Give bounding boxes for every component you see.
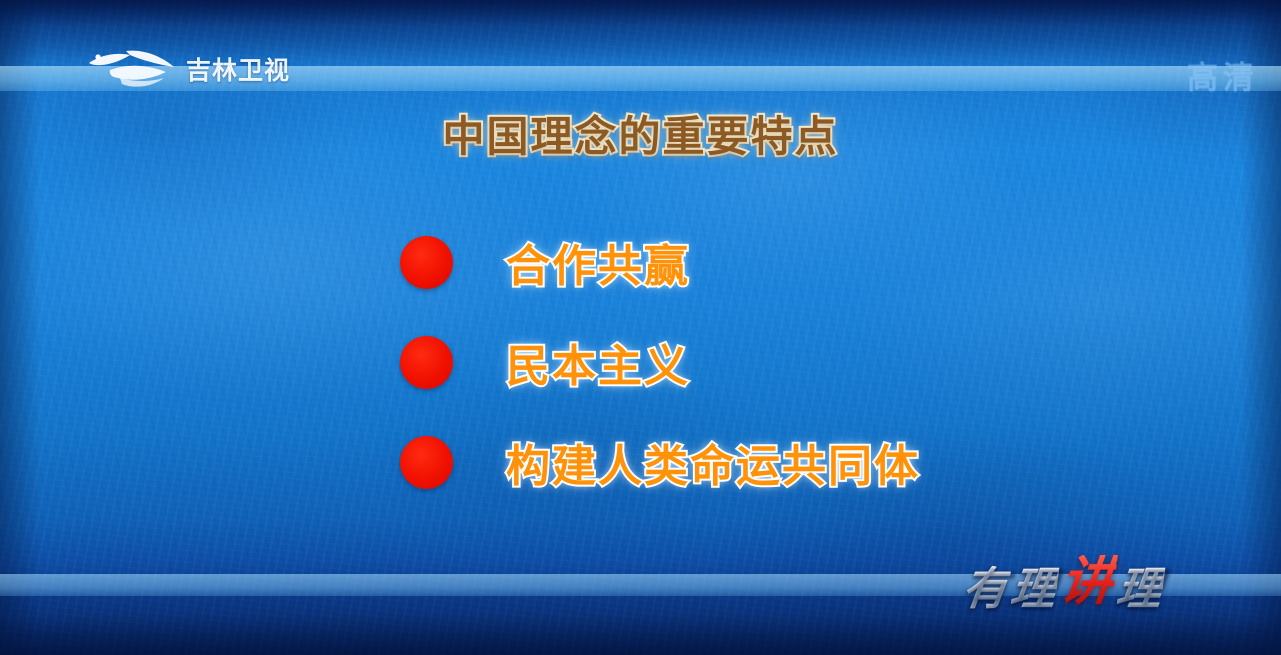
program-logo-glyph-4: 理 bbox=[1114, 566, 1166, 611]
program-logo-glyph-3: 讲 bbox=[1057, 555, 1118, 608]
bullet-label: 民本主义 bbox=[506, 330, 690, 394]
red-dot-bullet-icon bbox=[400, 236, 453, 289]
hd-watermark: 高清 bbox=[1187, 52, 1259, 97]
bullet-list: 合作共赢 民本主义 构建人类命运共同体 bbox=[400, 212, 1100, 512]
list-item: 合作共赢 bbox=[400, 212, 1100, 312]
bullet-label: 构建人类命运共同体 bbox=[506, 430, 920, 494]
list-item: 构建人类命运共同体 bbox=[400, 412, 1100, 512]
crane-bird-icon bbox=[86, 48, 178, 90]
channel-logo: 吉林卫视 bbox=[86, 48, 290, 90]
program-logo-glyph-1: 有 bbox=[960, 566, 1012, 611]
program-logo-glyph-2: 理 bbox=[1008, 566, 1060, 611]
list-item: 民本主义 bbox=[400, 312, 1100, 412]
bullet-label: 合作共赢 bbox=[506, 230, 690, 294]
slide-title: 中国理念的重要特点 bbox=[0, 103, 1281, 164]
red-dot-bullet-icon bbox=[400, 336, 453, 389]
channel-name: 吉林卫视 bbox=[186, 51, 290, 87]
broadcast-slide: 吉林卫视 高清 中国理念的重要特点 合作共赢 民本主义 构建人类命运共同体 有 … bbox=[0, 0, 1281, 655]
program-logo: 有 理 讲 理 bbox=[960, 560, 1167, 613]
red-dot-bullet-icon bbox=[400, 436, 453, 489]
